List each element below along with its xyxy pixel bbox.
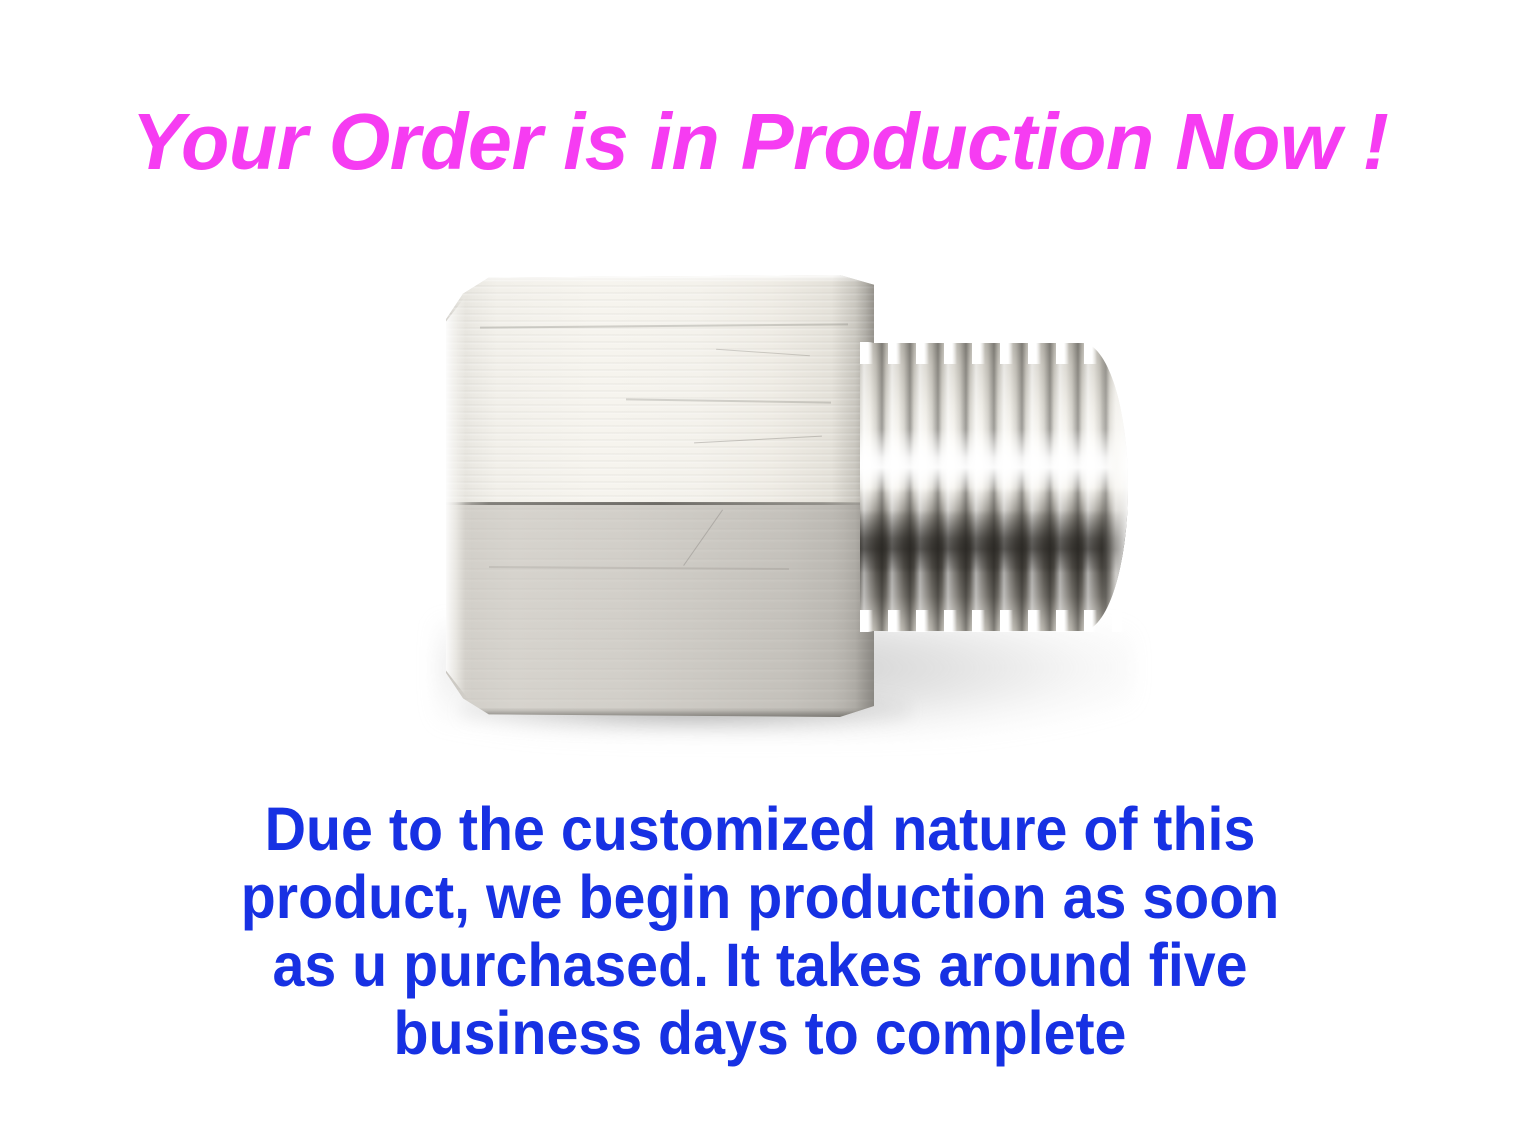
thread-barrel xyxy=(860,343,1128,631)
hex-facet-seam xyxy=(446,502,874,505)
hex-top-rim-highlight xyxy=(455,275,866,282)
hex-body xyxy=(446,275,874,717)
machining-striations xyxy=(446,275,874,503)
notice-line: as u purchased. It takes around five xyxy=(46,931,1475,999)
thread-specular-highlight xyxy=(860,429,1128,492)
thread-crest-top xyxy=(860,342,1128,364)
thread-shadow-band xyxy=(860,510,1128,573)
notice-line: Due to the customized nature of this xyxy=(46,795,1475,863)
notice-line: business days to complete xyxy=(46,999,1475,1067)
hex-left-chamfer xyxy=(446,288,472,703)
male-threaded-nipple xyxy=(860,343,1128,631)
page-title: Your Order is in Production Now ! xyxy=(8,96,1513,188)
promo-image-canvas: Your Order is in Production Now ! xyxy=(0,0,1520,1140)
thread-crest-bottom xyxy=(860,610,1128,632)
hex-lower-facet xyxy=(446,503,874,717)
notice-line: product, we begin production as soon xyxy=(46,863,1475,931)
machining-striations xyxy=(446,503,874,717)
product-photo xyxy=(380,235,1210,795)
production-notice-text: Due to the customized nature of this pro… xyxy=(46,795,1475,1067)
hex-top-facet xyxy=(446,275,874,503)
